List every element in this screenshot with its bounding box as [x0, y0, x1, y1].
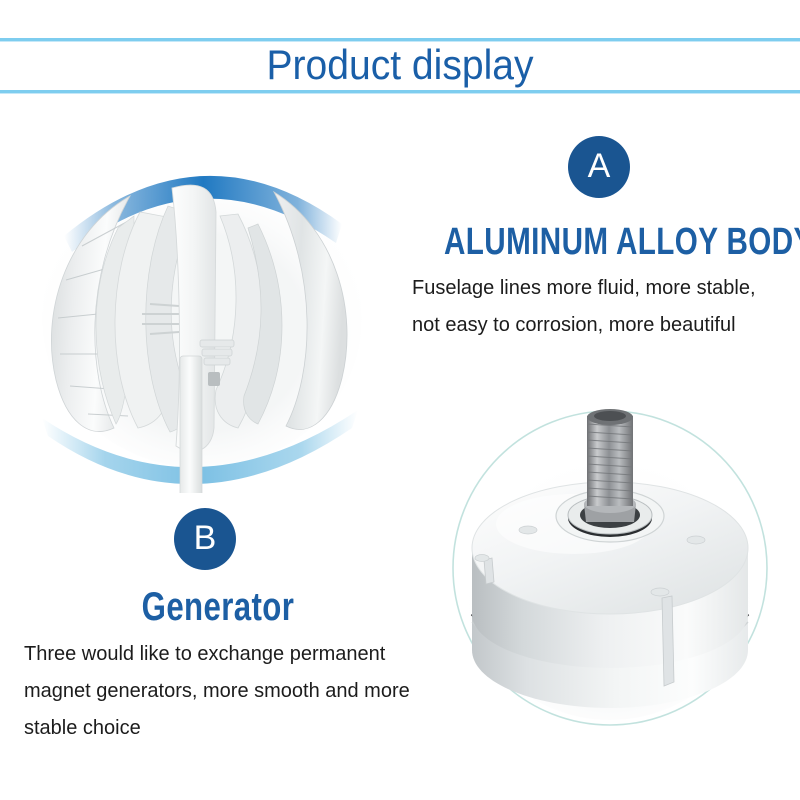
- turbine-image: [22, 128, 382, 493]
- feature-b-body-line: stable choice: [24, 710, 440, 747]
- feature-a-heading: ALUMINUM ALLOY BODY: [444, 222, 756, 262]
- feature-a-body: Fuselage lines more fluid, more stable, …: [400, 270, 800, 344]
- feature-a-body-line: not easy to corrosion, more beautiful: [412, 307, 800, 344]
- page-header: Product display: [0, 0, 800, 100]
- feature-a: A ALUMINUM ALLOY BODY Fuselage lines mor…: [400, 136, 800, 344]
- feature-b-body: Three would like to exchange permanent m…: [10, 636, 440, 747]
- feature-a-badge: A: [568, 136, 630, 198]
- feature-b-badge: B: [174, 508, 236, 570]
- header-rule-bottom: [0, 90, 800, 93]
- feature-b-heading: Generator: [57, 586, 392, 628]
- feature-a-body-line: Fuselage lines more fluid, more stable,: [412, 270, 800, 307]
- generator-image: [424, 382, 796, 757]
- feature-b-body-line: magnet generators, more smooth and more: [24, 673, 440, 710]
- feature-b-body-line: Three would like to exchange permanent: [24, 636, 440, 673]
- page-title: Product display: [28, 41, 772, 89]
- feature-b: B Generator Three would like to exchange…: [10, 508, 440, 747]
